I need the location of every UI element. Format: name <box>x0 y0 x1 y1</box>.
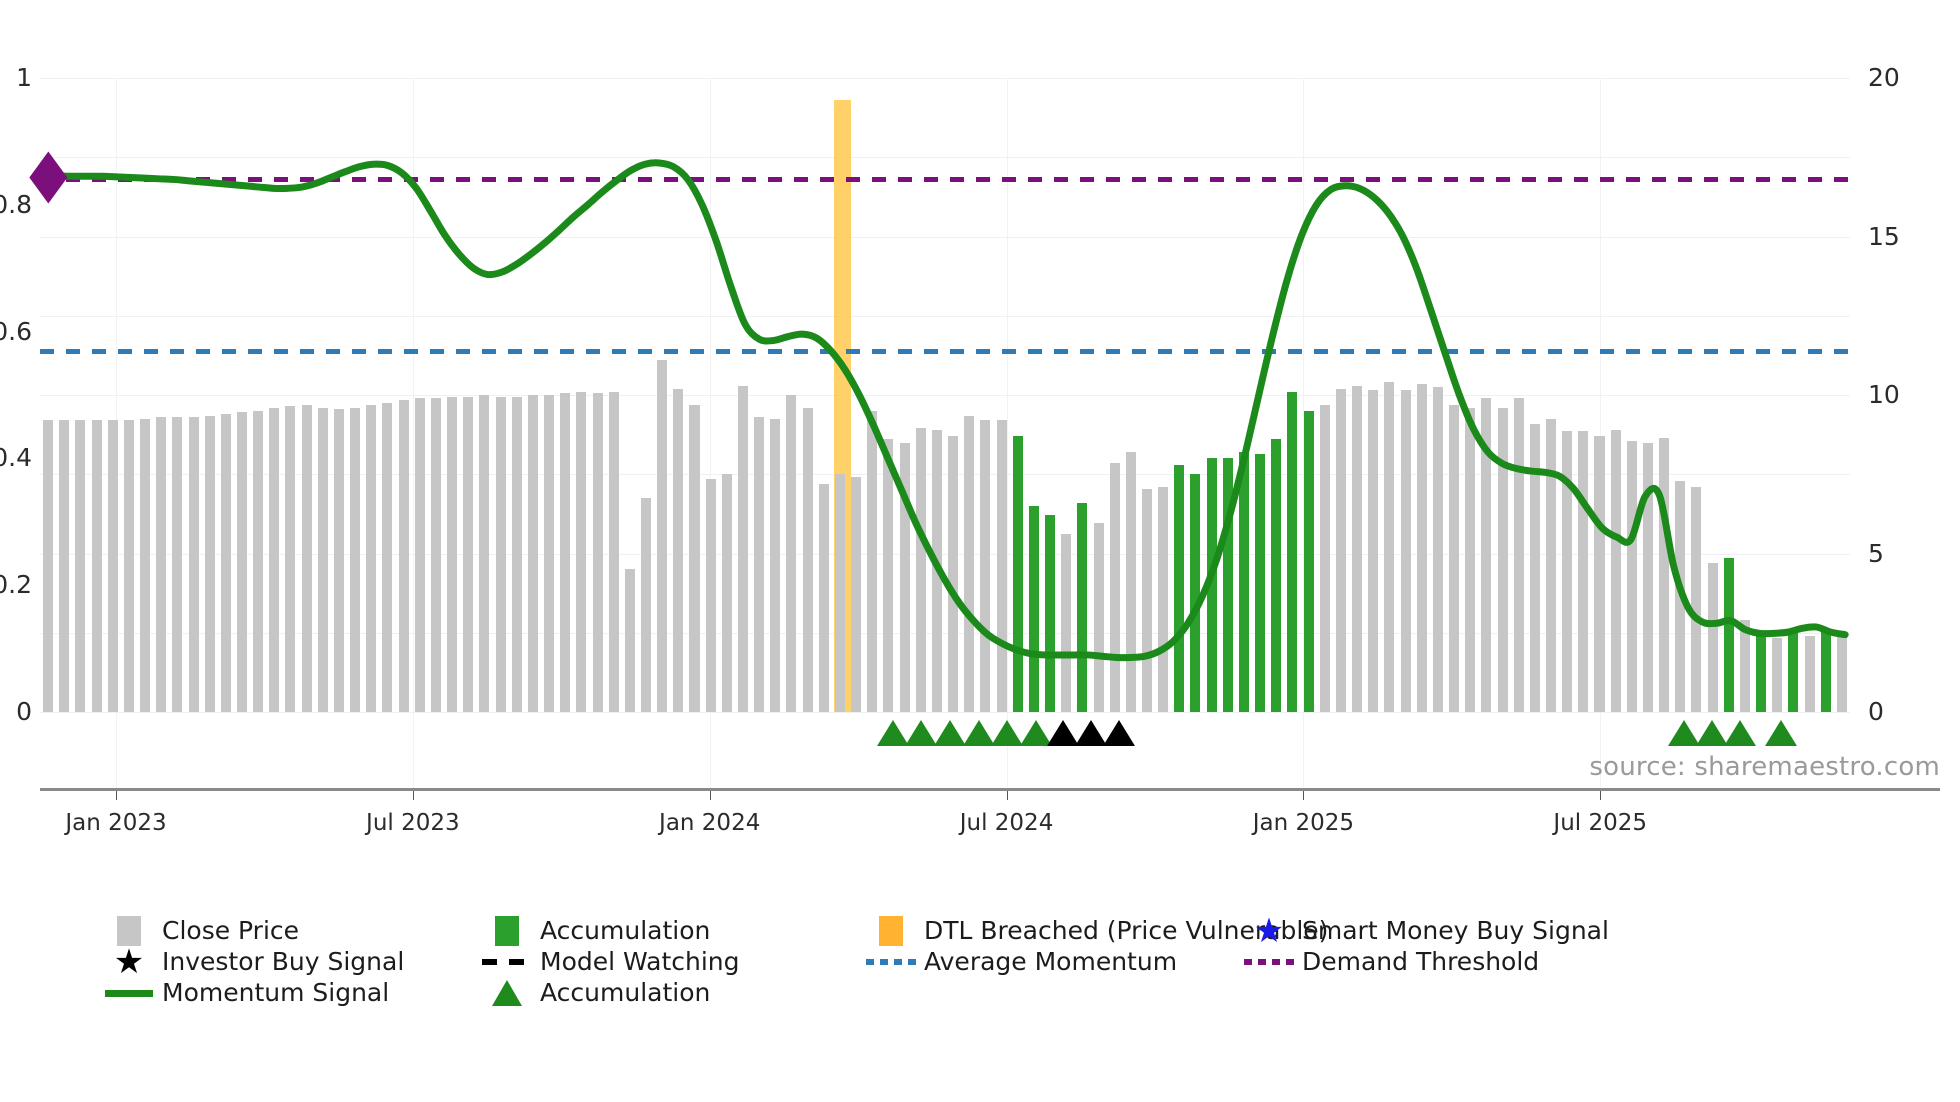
x-axis-tick-mark <box>1600 791 1601 800</box>
y-axis-right-tick: 15 <box>1868 224 1928 249</box>
dashed-line-icon <box>482 959 532 965</box>
smart-money-buy-signal-marker <box>29 152 67 204</box>
legend-item[interactable]: Accumulation <box>478 916 710 946</box>
star-icon: ★ <box>114 947 144 977</box>
y-axis-right-tick: 10 <box>1868 382 1928 407</box>
legend-item[interactable]: Momentum Signal <box>100 978 389 1008</box>
legend-label: Investor Buy Signal <box>162 947 404 977</box>
source-attribution: source: sharemaestro.com <box>1589 752 1940 782</box>
triangle-up-icon <box>492 980 522 1006</box>
square-icon <box>478 916 536 946</box>
plot-inner <box>40 78 1850 712</box>
x-axis-tick-label: Jan 2023 <box>65 812 166 835</box>
legend-item[interactable]: Demand Threshold <box>1240 947 1539 977</box>
legend-item[interactable]: ★Smart Money Buy Signal <box>1240 916 1609 946</box>
dotted-line-icon <box>1244 959 1294 965</box>
x-axis-tick-mark <box>1007 791 1008 800</box>
legend-label: Demand Threshold <box>1302 947 1539 977</box>
dotted-line-icon <box>862 947 920 977</box>
star-icon: ★ <box>1254 916 1284 946</box>
x-axis-tick-label: Jul 2024 <box>960 812 1054 835</box>
x-axis-tick-mark <box>116 791 117 800</box>
dotted-line-icon <box>1240 947 1298 977</box>
triangle-up-icon <box>478 978 536 1008</box>
x-axis-tick-mark <box>710 791 711 800</box>
legend-label: Accumulation <box>540 978 710 1008</box>
legend-item[interactable]: Average Momentum <box>862 947 1177 977</box>
accumulation-marker <box>934 720 966 746</box>
legend-label: Model Watching <box>540 947 740 977</box>
legend-label: Accumulation <box>540 916 710 946</box>
gridline <box>40 712 1850 713</box>
plot-area <box>40 78 1850 712</box>
y-axis-right-tick: 5 <box>1868 541 1928 566</box>
legend-label: Smart Money Buy Signal <box>1302 916 1609 946</box>
y-axis-left-tick: 0.2 <box>0 572 32 597</box>
dotted-line-icon <box>866 959 916 965</box>
x-axis-tick-label: Jul 2025 <box>1553 812 1647 835</box>
investor-buy-signal-marker <box>1103 720 1135 746</box>
legend-label: Close Price <box>162 916 299 946</box>
solid-line-icon <box>100 978 158 1008</box>
legend-item[interactable]: Model Watching <box>478 947 740 977</box>
y-axis-left-tick: 0.4 <box>0 445 32 470</box>
x-axis-tick-mark <box>413 791 414 800</box>
accumulation-marker <box>1765 720 1797 746</box>
momentum-signal-line <box>40 78 1850 712</box>
accumulation-marker <box>991 720 1023 746</box>
square-icon <box>879 916 903 946</box>
x-axis-tick-label: Jan 2025 <box>1253 812 1354 835</box>
legend-label: Average Momentum <box>924 947 1177 977</box>
accumulation-marker <box>1724 720 1756 746</box>
y-axis-left-tick: 0.6 <box>0 319 32 344</box>
accumulation-marker <box>905 720 937 746</box>
chart-legend: Close PriceAccumulationDTL Breached (Pri… <box>0 916 1960 1066</box>
star-icon: ★ <box>100 947 158 977</box>
y-axis-right-tick: 0 <box>1868 699 1928 724</box>
legend-label: Momentum Signal <box>162 978 389 1008</box>
solid-line-icon <box>105 990 153 997</box>
dashed-line-icon <box>478 947 536 977</box>
legend-item[interactable]: Accumulation <box>478 978 710 1008</box>
x-axis-tick-mark <box>1303 791 1304 800</box>
y-axis-left-tick: 1 <box>0 65 32 90</box>
y-axis-left-tick: 0.8 <box>0 192 32 217</box>
x-axis-line <box>40 788 1940 791</box>
y-axis-left-tick: 0 <box>0 699 32 724</box>
x-axis-tick-label: Jul 2023 <box>366 812 460 835</box>
x-axis-tick-label: Jan 2024 <box>659 812 760 835</box>
legend-item[interactable]: ★Investor Buy Signal <box>100 947 404 977</box>
square-icon <box>862 916 920 946</box>
star-icon: ★ <box>1240 916 1298 946</box>
square-icon <box>495 916 519 946</box>
y-axis-right-tick: 20 <box>1868 65 1928 90</box>
chart-root: { "source_note": "source: sharemaestro.c… <box>0 0 1960 1102</box>
